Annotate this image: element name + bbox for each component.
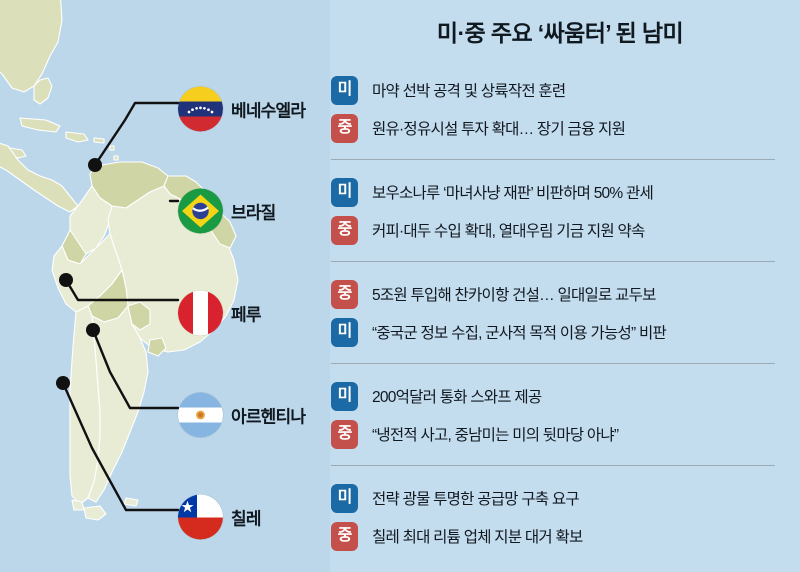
infographic-root: 미·중 주요 ‘싸움터’ 된 남미 <box>0 0 800 572</box>
badge-cn: 중 <box>331 114 358 143</box>
chile-flag <box>178 495 223 540</box>
fact-text: 5조원 투입해 찬카이항 건설… 일대일로 교두보 <box>372 283 656 305</box>
fact-text: “냉전적 사고, 중남미는 미의 뒷마당 아냐” <box>372 423 618 445</box>
fact-text: 마약 선박 공격 및 상륙작전 훈련 <box>372 79 565 101</box>
argentina-flag <box>178 393 223 438</box>
fact-item: 중 5조원 투입해 찬카이항 건설… 일대일로 교두보 <box>331 275 791 313</box>
fact-list: 미 보우소나루 ‘마녀사냥 재판’ 비판하며 50% 관세 중 커피·대두 수입… <box>331 173 791 249</box>
badge-cn: 중 <box>331 522 358 551</box>
badge-us: 미 <box>331 382 358 411</box>
fact-item: 미 보우소나루 ‘마녀사냥 재판’ 비판하며 50% 관세 <box>331 173 791 211</box>
fact-item: 미 전략 광물 투명한 공급망 구축 요구 <box>331 479 791 517</box>
page-title: 미·중 주요 ‘싸움터’ 된 남미 <box>330 14 790 48</box>
venezuela-flag <box>178 87 223 132</box>
country-row-venezuela: 베네수엘라 미 마약 선박 공격 및 상륙작전 훈련 중 원유·정유시설 투자 … <box>0 58 800 160</box>
country-row-chile: 칠레 미 전략 광물 투명한 공급망 구축 요구 중 칠레 최대 리튬 업체 지… <box>0 466 800 568</box>
badge-cn: 중 <box>331 280 358 309</box>
fact-text: 200억달러 통화 스와프 제공 <box>372 385 541 407</box>
fact-list: 미 마약 선박 공격 및 상륙작전 훈련 중 원유·정유시설 투자 확대… 장기… <box>331 71 791 147</box>
badge-us: 미 <box>331 484 358 513</box>
country-name: 칠레 <box>231 505 261 530</box>
badge-cn: 중 <box>331 420 358 449</box>
country-name: 베네수엘라 <box>231 97 305 122</box>
fact-item: 미 마약 선박 공격 및 상륙작전 훈련 <box>331 71 791 109</box>
fact-list: 중 5조원 투입해 찬카이항 건설… 일대일로 교두보 미 “중국군 정보 수집… <box>331 275 791 351</box>
country-row-brazil: 브라질 미 보우소나루 ‘마녀사냥 재판’ 비판하며 50% 관세 중 커피·대… <box>0 160 800 262</box>
fact-text: 칠레 최대 리튬 업체 지분 대거 확보 <box>372 525 582 547</box>
fact-list: 미 200억달러 통화 스와프 제공 중 “냉전적 사고, 중남미는 미의 뒷마… <box>331 377 791 453</box>
fact-text: 전략 광물 투명한 공급망 구축 요구 <box>372 487 579 509</box>
country-row-argentina: 아르헨티나 미 200억달러 통화 스와프 제공 중 “냉전적 사고, 중남미는… <box>0 364 800 466</box>
fact-text: 커피·대두 수입 확대, 열대우림 기금 지원 약속 <box>372 219 645 241</box>
badge-us: 미 <box>331 76 358 105</box>
fact-item: 중 커피·대두 수입 확대, 열대우림 기금 지원 약속 <box>331 211 791 249</box>
fact-text: 원유·정유시설 투자 확대… 장기 금융 지원 <box>372 117 625 139</box>
country-row-peru: 페루 중 5조원 투입해 찬카이항 건설… 일대일로 교두보 미 “중국군 정보… <box>0 262 800 364</box>
badge-us: 미 <box>331 318 358 347</box>
fact-item: 중 “냉전적 사고, 중남미는 미의 뒷마당 아냐” <box>331 415 791 453</box>
fact-item: 미 “중국군 정보 수집, 군사적 목적 이용 가능성” 비판 <box>331 313 791 351</box>
country-name: 페루 <box>231 301 261 326</box>
peru-flag <box>178 291 223 336</box>
brazil-flag <box>178 189 223 234</box>
fact-text: 보우소나루 ‘마녀사냥 재판’ 비판하며 50% 관세 <box>372 181 653 203</box>
fact-item: 미 200억달러 통화 스와프 제공 <box>331 377 791 415</box>
country-rows: 베네수엘라 미 마약 선박 공격 및 상륙작전 훈련 중 원유·정유시설 투자 … <box>0 58 800 568</box>
fact-item: 중 원유·정유시설 투자 확대… 장기 금융 지원 <box>331 109 791 147</box>
badge-cn: 중 <box>331 216 358 245</box>
badge-us: 미 <box>331 178 358 207</box>
fact-item: 중 칠레 최대 리튬 업체 지분 대거 확보 <box>331 517 791 555</box>
country-name: 브라질 <box>231 199 276 224</box>
fact-text: “중국군 정보 수집, 군사적 목적 이용 가능성” 비판 <box>372 321 666 343</box>
country-name: 아르헨티나 <box>231 403 305 428</box>
fact-list: 미 전략 광물 투명한 공급망 구축 요구 중 칠레 최대 리튬 업체 지분 대… <box>331 479 791 555</box>
